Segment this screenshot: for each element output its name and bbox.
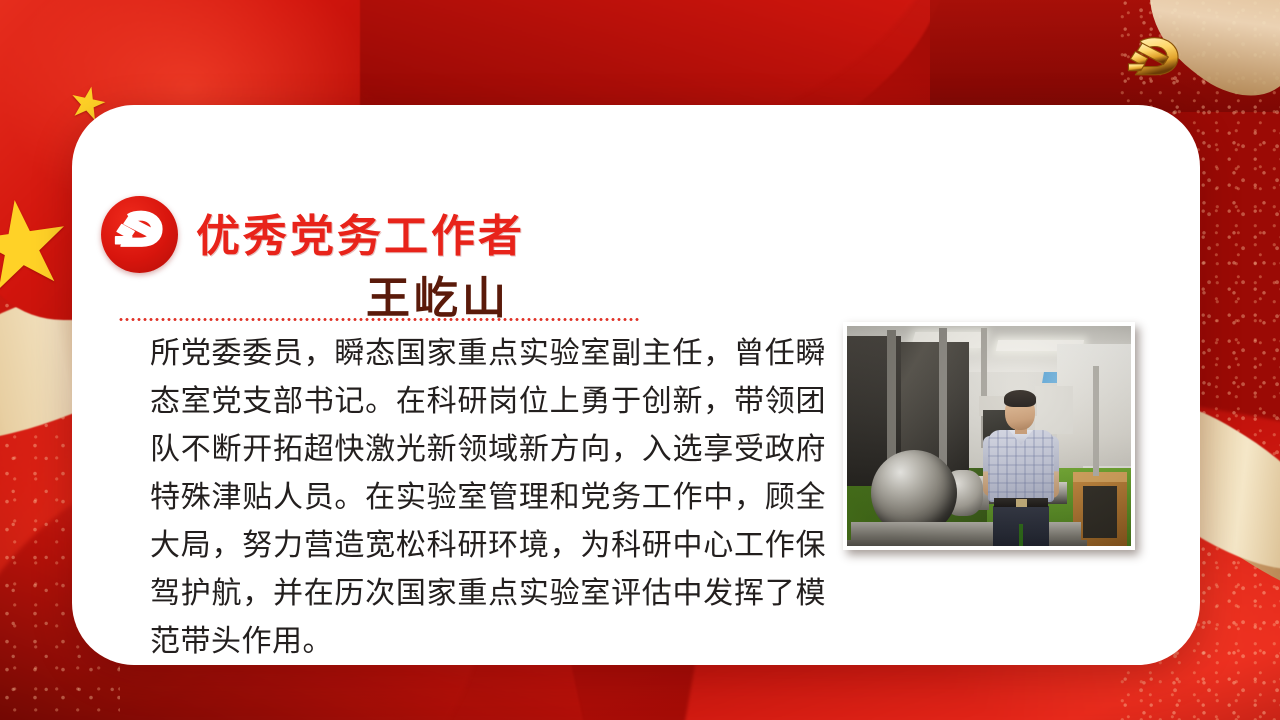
- photo-table-top: [1073, 472, 1127, 482]
- party-emblem-icon: [1114, 28, 1198, 90]
- slide-root: ★ ★ ★ ★ ★: [0, 0, 1280, 720]
- person-photo: [843, 322, 1135, 550]
- photo-cabinet: [1035, 386, 1073, 434]
- photo-bench-base: [847, 540, 1087, 550]
- party-badge-icon: [101, 196, 178, 273]
- person-name: 王屹山: [366, 262, 510, 326]
- photo-frame-beam-2: [939, 328, 947, 468]
- photo-person-leg-gap: [1019, 524, 1023, 550]
- page-title: 优秀党务工作者: [196, 200, 525, 264]
- photo-frame-beam-4: [1093, 366, 1099, 476]
- dotted-divider: [118, 318, 640, 321]
- photo-person-hair: [1004, 390, 1036, 407]
- photo-person-belt-buckle: [1016, 499, 1027, 507]
- biography-text: 所党委委员，瞬态国家重点实验室副主任，曾任瞬态室党支部书记。在科研岗位上勇于创新…: [150, 330, 826, 666]
- photo-table-opening: [1083, 486, 1117, 538]
